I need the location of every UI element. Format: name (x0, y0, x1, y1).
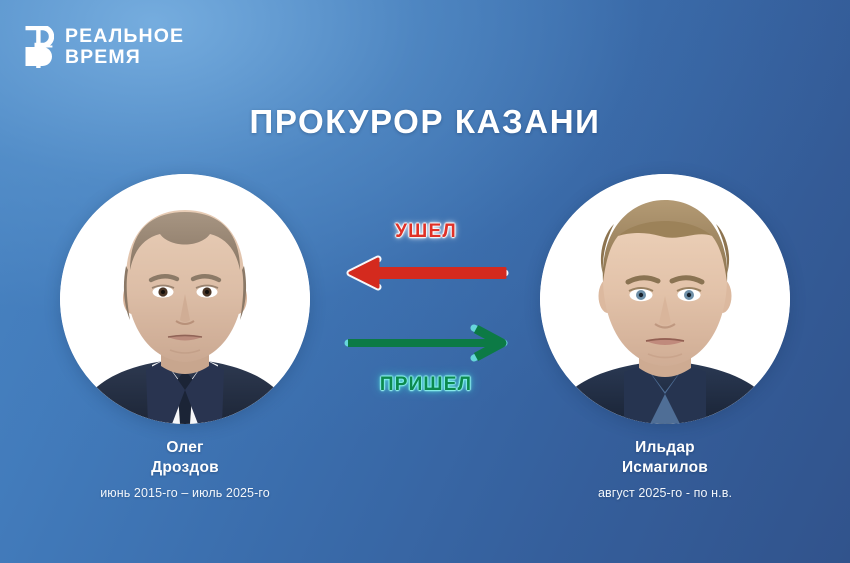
person-lastname-left: Дроздов (60, 458, 310, 478)
arrow-label-leaving: УШЕЛ (340, 222, 512, 241)
avatar-right (540, 174, 790, 424)
person-lastname-right: Исмагилов (540, 458, 790, 478)
arrow-group-arriving: ПРИШЕЛ (340, 322, 512, 394)
arrow-label-arriving: ПРИШЕЛ (340, 375, 512, 394)
person-card-left: Олег Дроздов июнь 2015-го – июль 2025-го (60, 174, 310, 500)
arrow-left-icon (340, 252, 512, 294)
person-firstname-left: Олег (60, 438, 310, 458)
realnoe-vremya-mark-icon (24, 26, 54, 68)
person-firstname-right: Ильдар (540, 438, 790, 458)
arrow-group-leaving: УШЕЛ (340, 222, 512, 294)
avatar-left (60, 174, 310, 424)
person-name-left: Олег Дроздов (60, 438, 310, 478)
page-title: ПРОКУРОР КАЗАНИ (0, 103, 850, 141)
infographic-poster: РЕАЛЬНОЕ ВРЕМЯ ПРОКУРОР КАЗАНИ (0, 0, 850, 563)
brand-name-line1: РЕАЛЬНОЕ (65, 26, 184, 47)
portrait-oleg-drozdov (60, 174, 310, 424)
brand-name-line2: ВРЕМЯ (65, 47, 184, 68)
person-term-right: август 2025-го - по н.в. (540, 486, 790, 500)
transition-arrows: УШЕЛ (340, 222, 512, 402)
person-term-left: июнь 2015-го – июль 2025-го (60, 486, 310, 500)
brand-logo: РЕАЛЬНОЕ ВРЕМЯ (24, 26, 184, 68)
person-name-right: Ильдар Исмагилов (540, 438, 790, 478)
arrow-right-icon (340, 322, 512, 364)
brand-name: РЕАЛЬНОЕ ВРЕМЯ (65, 26, 184, 68)
portrait-ildar-ismagilov (540, 174, 790, 424)
person-card-right: Ильдар Исмагилов август 2025-го - по н.в… (540, 174, 790, 500)
